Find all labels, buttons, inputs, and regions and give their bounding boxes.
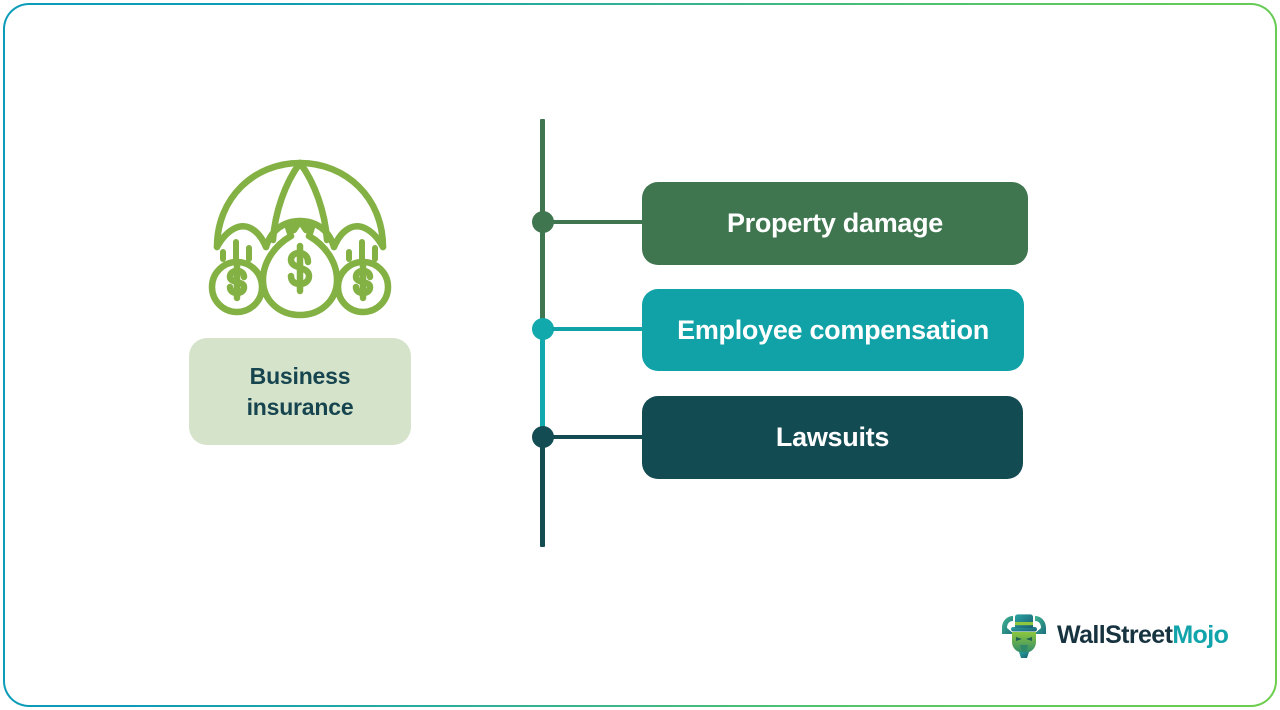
node-property-damage[interactable] bbox=[532, 211, 554, 233]
timeline-axis bbox=[536, 112, 556, 554]
connector-employee-compensation bbox=[552, 327, 644, 331]
wallstreetmojo-bull-icon bbox=[1000, 612, 1048, 658]
node-employee-compensation[interactable] bbox=[532, 318, 554, 340]
connector-property-damage bbox=[552, 220, 644, 224]
business-insurance-label: Business insurance bbox=[247, 361, 354, 422]
item-box-employee-compensation[interactable]: Employee compensation bbox=[642, 289, 1024, 371]
node-lawsuits[interactable] bbox=[532, 426, 554, 448]
item-label-employee-compensation: Employee compensation bbox=[677, 315, 989, 346]
item-box-lawsuits[interactable]: Lawsuits bbox=[642, 396, 1023, 479]
item-label-lawsuits: Lawsuits bbox=[776, 422, 889, 453]
business-insurance-box: Business insurance bbox=[189, 338, 411, 445]
logo-text-primary: WallStreet bbox=[1057, 621, 1172, 649]
umbrella-money-icon bbox=[205, 150, 395, 330]
business-insurance-cluster: Business insurance bbox=[189, 150, 411, 455]
item-box-property-damage[interactable]: Property damage bbox=[642, 182, 1028, 265]
logo-text-accent: Mojo bbox=[1172, 621, 1228, 649]
wallstreetmojo-logo[interactable]: WallStreetMojo bbox=[1000, 610, 1222, 660]
connector-lawsuits bbox=[552, 435, 644, 439]
infographic-canvas: Business insurance Property damage Emplo… bbox=[0, 0, 1280, 710]
item-label-property-damage: Property damage bbox=[727, 208, 943, 239]
logo-wordmark: WallStreetMojo bbox=[1057, 621, 1228, 650]
